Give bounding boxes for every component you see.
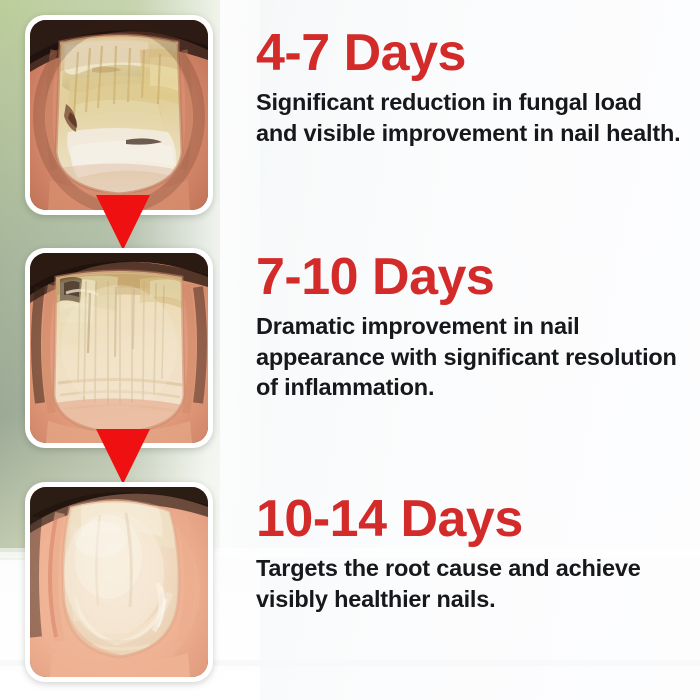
stage-2-description: Dramatic improvement in nail appearance …	[256, 311, 688, 403]
stage-3-photo-card	[25, 482, 213, 682]
stage-1-photo	[30, 20, 208, 210]
stage-1-headline: 4-7 Days	[256, 26, 688, 81]
stage-2-photo	[30, 253, 208, 443]
stage-2-text-block: 7-10 Days Dramatic improvement in nail a…	[256, 250, 688, 403]
stage-1-photo-card	[25, 15, 213, 215]
stage-3-headline: 10-14 Days	[256, 492, 688, 547]
stage-1-description: Significant reduction in fungal load and…	[256, 87, 688, 148]
treatment-timeline-infographic: 4-7 Days Significant reduction in fungal…	[0, 0, 700, 700]
stage-2-headline: 7-10 Days	[256, 250, 688, 305]
stage-3-photo	[30, 487, 208, 677]
progress-arrow-stage-1-to-2	[95, 193, 151, 251]
stage-2-photo-card	[25, 248, 213, 448]
stage-3-text-block: 10-14 Days Targets the root cause and ac…	[256, 492, 688, 614]
stage-3-description: Targets the root cause and achieve visib…	[256, 553, 688, 614]
stage-1-text-block: 4-7 Days Significant reduction in fungal…	[256, 26, 688, 148]
progress-arrow-stage-2-to-3	[95, 427, 151, 485]
